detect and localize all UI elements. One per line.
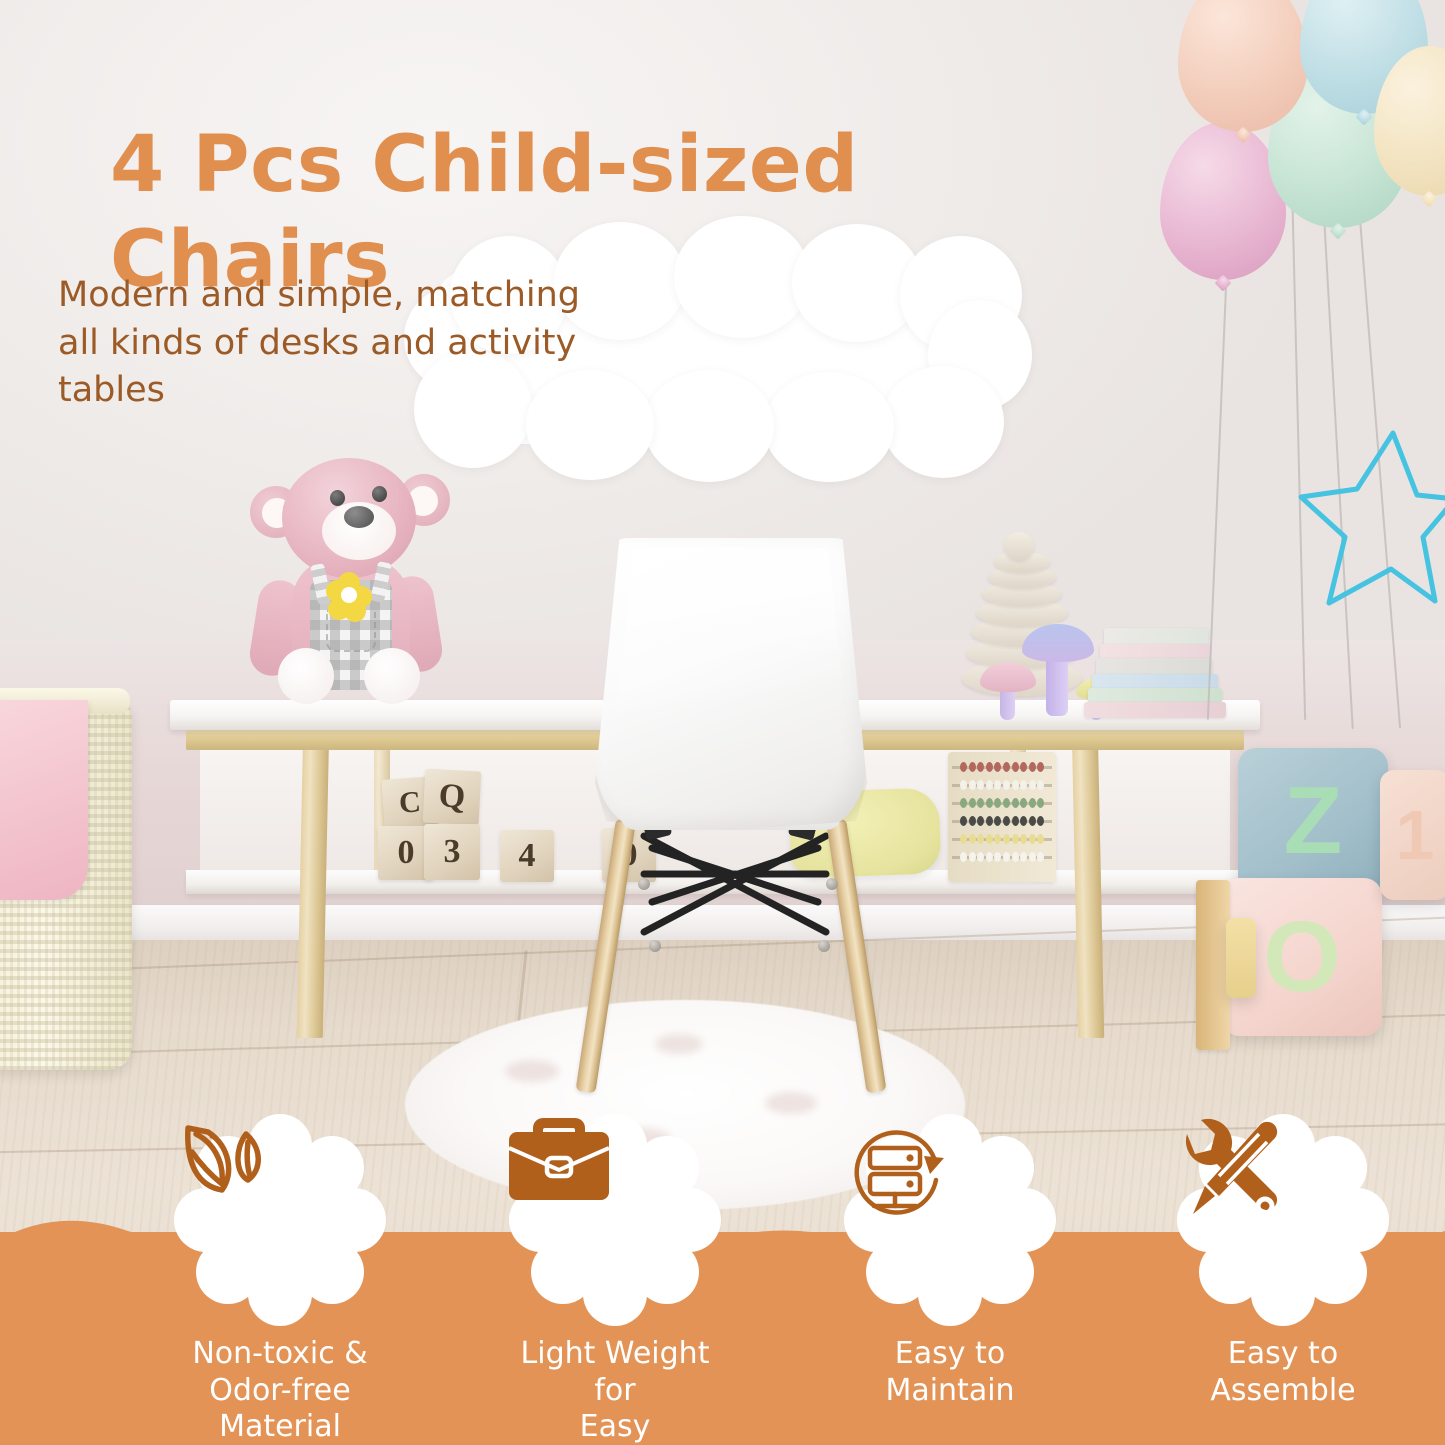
abacus-bead xyxy=(977,834,984,844)
abacus-bead xyxy=(986,852,993,862)
abacus-bead xyxy=(1029,798,1036,808)
abacus-bead xyxy=(969,762,976,772)
abacus xyxy=(948,752,1056,882)
abacus-bead xyxy=(1012,762,1019,772)
abacus-bead xyxy=(1020,798,1027,808)
server-refresh-icon xyxy=(842,1112,1058,1328)
abacus-bead xyxy=(1012,816,1019,826)
rug-pattern-dot xyxy=(505,1060,559,1082)
abacus-bead xyxy=(1003,852,1010,862)
abacus-bead xyxy=(1020,852,1027,862)
abacus-bead xyxy=(986,798,993,808)
chair-leg-screw xyxy=(649,940,661,952)
wooden-block-letter: 0 xyxy=(398,834,415,872)
wire-star-decoration xyxy=(1295,425,1445,615)
leaves-icon xyxy=(172,1112,388,1328)
abacus-bead xyxy=(1003,798,1010,808)
wooden-block: 3 xyxy=(424,824,480,880)
bear-nose xyxy=(344,506,374,528)
balloon-peach xyxy=(1178,0,1308,132)
abacus-bead xyxy=(1037,816,1044,826)
abacus-bead xyxy=(977,780,984,790)
abacus-bead xyxy=(1029,780,1036,790)
abacus-bead xyxy=(1029,834,1036,844)
feature-badge xyxy=(507,1112,723,1328)
stacking-ring-top-ball xyxy=(1004,532,1034,560)
abacus-bead xyxy=(977,816,984,826)
chair-leg-screw xyxy=(818,940,830,952)
chair-shell-highlight xyxy=(612,548,850,810)
abacus-bead xyxy=(994,852,1001,862)
abacus-bead xyxy=(969,798,976,808)
abacus-bead xyxy=(1003,780,1010,790)
feature-badge xyxy=(172,1112,388,1328)
abacus-bead xyxy=(986,762,993,772)
abacus-bead xyxy=(994,762,1001,772)
cloud-lobe xyxy=(764,372,894,482)
teddy-bear xyxy=(248,452,448,714)
feature-label: Non-toxic & Odor-free Material xyxy=(165,1336,395,1445)
abacus-bead xyxy=(960,780,967,790)
abacus-bead xyxy=(994,780,1001,790)
abacus-bead xyxy=(969,780,976,790)
abacus-bead xyxy=(960,816,967,826)
feature-badge xyxy=(842,1112,1058,1328)
abacus-bead xyxy=(1020,762,1027,772)
cube-letter-text: 1 xyxy=(1380,770,1445,900)
abacus-bead xyxy=(1003,816,1010,826)
chair-leg-screw xyxy=(638,878,650,890)
abacus-bead xyxy=(1037,762,1044,772)
abacus-bead xyxy=(1029,816,1036,826)
cloud-lobe xyxy=(674,216,810,338)
book xyxy=(1084,702,1226,718)
abacus-bead xyxy=(986,834,993,844)
abacus-bead xyxy=(994,798,1001,808)
wooden-block-letter: 3 xyxy=(444,833,461,871)
tools-icon xyxy=(1175,1112,1391,1328)
abacus-bead xyxy=(1003,762,1010,772)
chair-leg-screw xyxy=(826,878,838,890)
pink-blanket xyxy=(0,700,88,900)
feature-label: Easy to Maintain xyxy=(835,1336,1065,1409)
letter-cube-z: Z xyxy=(1238,748,1388,894)
feature-item-3: Easy to Maintain xyxy=(835,1112,1065,1409)
abacus-bead xyxy=(986,780,993,790)
bear-eye xyxy=(372,486,387,502)
product-marketing-image: C Q 0 3 4 0 xyxy=(0,0,1445,1445)
abacus-bead xyxy=(1012,834,1019,844)
rug-pattern-dot xyxy=(765,1092,817,1114)
abacus-bead xyxy=(969,852,976,862)
abacus-bead xyxy=(977,852,984,862)
flower-center xyxy=(341,587,357,603)
wooden-block: 4 xyxy=(500,830,554,882)
abacus-bead xyxy=(1020,816,1027,826)
cube-side-shape xyxy=(1226,918,1256,998)
abacus-bead xyxy=(1012,798,1019,808)
abacus-bead xyxy=(1029,762,1036,772)
bear-foot xyxy=(278,648,334,704)
wooden-block: Q xyxy=(423,769,482,826)
abacus-bead xyxy=(1012,852,1019,862)
abacus-bead xyxy=(986,816,993,826)
letter-cube-one: 1 xyxy=(1380,770,1445,900)
abacus-bead xyxy=(1003,834,1010,844)
flower-decoration xyxy=(326,572,372,618)
abacus-bead xyxy=(960,762,967,772)
chair-eiffel-base-wires xyxy=(630,828,840,958)
cube-letter-text: Z xyxy=(1238,748,1388,894)
briefcase-icon xyxy=(507,1112,723,1328)
abacus-bead xyxy=(969,816,976,826)
abacus-bead xyxy=(969,834,976,844)
headline-line-1: 4 Pcs Child-sized xyxy=(110,118,900,213)
feature-item-4: Easy to Assemble xyxy=(1168,1112,1398,1409)
feature-label: Light Weight for Easy Movement xyxy=(500,1336,730,1445)
wooden-block-letter: Q xyxy=(438,777,466,816)
rug-pattern-dot xyxy=(655,1034,703,1054)
wooden-block-letter: 4 xyxy=(519,837,536,875)
feature-item-2: Light Weight for Easy Movement xyxy=(500,1112,730,1445)
callout-text: Modern and simple, matching all kinds of… xyxy=(58,272,618,415)
abacus-bead xyxy=(1037,852,1044,862)
abacus-bead xyxy=(1029,852,1036,862)
cloud-lobe xyxy=(644,370,774,482)
abacus-bead xyxy=(1037,780,1044,790)
abacus-bead xyxy=(1037,798,1044,808)
abacus-bead xyxy=(960,834,967,844)
abacus-bead xyxy=(977,798,984,808)
wooden-block-letter: C xyxy=(398,785,422,820)
abacus-bead xyxy=(977,762,984,772)
abacus-bead xyxy=(1020,834,1027,844)
abacus-bead xyxy=(994,816,1001,826)
abacus-bead xyxy=(960,852,967,862)
abacus-bead xyxy=(960,798,967,808)
wooden-panel xyxy=(1196,880,1230,1050)
feature-label: Easy to Assemble xyxy=(1168,1336,1398,1409)
bear-foot xyxy=(364,648,420,704)
feature-item-1: Non-toxic & Odor-free Material xyxy=(165,1112,395,1445)
cloud-lobe xyxy=(882,366,1004,478)
feature-badge xyxy=(1175,1112,1391,1328)
abacus-bead xyxy=(994,834,1001,844)
abacus-bead xyxy=(1020,780,1027,790)
abacus-bead xyxy=(1012,780,1019,790)
abacus-bead xyxy=(1037,834,1044,844)
